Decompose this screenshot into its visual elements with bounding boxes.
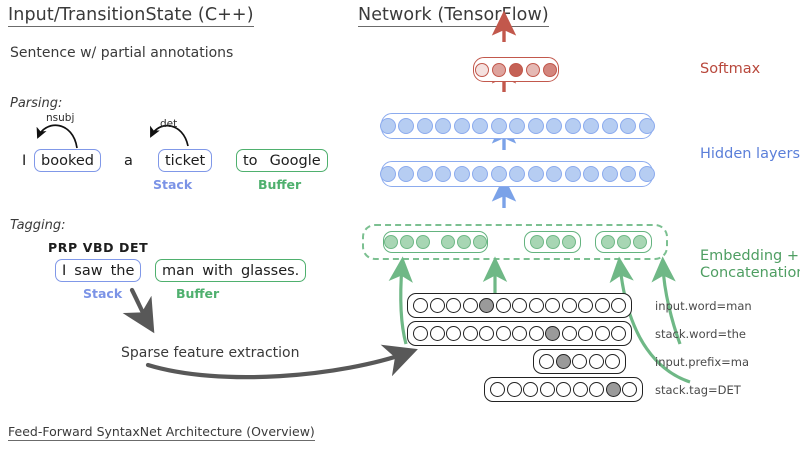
hidden-node: [639, 166, 655, 182]
embedding-node: [384, 235, 398, 249]
hidden-layers-label: Hidden layers: [700, 146, 800, 162]
parsing-stack-box-1[interactable]: booked: [34, 149, 101, 172]
sparse-feature-label-1: input.word=man: [655, 299, 752, 313]
parsing-stack-token-booked: booked: [35, 153, 100, 169]
sparse-node: [479, 326, 494, 341]
left-panel-subtitle: Sentence w/ partial annotations: [10, 45, 233, 61]
sparse-feature-row-3: [533, 349, 626, 374]
sparse-feature-row-2: [407, 321, 632, 346]
tagging-stack-label: Stack: [83, 286, 122, 301]
embedding-node: [416, 235, 430, 249]
hidden-node: [435, 166, 451, 182]
parsing-buffer-box[interactable]: to Google: [236, 149, 328, 172]
sparse-node: [578, 326, 593, 341]
hidden-node: [398, 118, 414, 134]
sparse-node: [446, 326, 461, 341]
sparse-node: [463, 326, 478, 341]
sparse-node: [562, 298, 577, 313]
embedding-node: [617, 235, 631, 249]
embedding-node: [601, 235, 615, 249]
sparse-node: [573, 382, 588, 397]
sparse-node: [540, 382, 555, 397]
hidden-node: [546, 166, 562, 182]
sparse-node: [529, 298, 544, 313]
hidden-node: [602, 166, 618, 182]
tagging-stack-box[interactable]: I saw the: [55, 259, 141, 282]
softmax-label: Softmax: [700, 61, 760, 77]
embedding-group-2-nodes: [441, 235, 487, 249]
tagging-stack-token-i: I: [56, 263, 70, 279]
embedding-group-4: [595, 231, 652, 253]
sparse-node: [611, 298, 626, 313]
hidden-node: [639, 118, 655, 134]
hidden-node: [472, 166, 488, 182]
sparse-node: [512, 326, 527, 341]
embedding-label-line-1: Embedding +: [700, 248, 800, 265]
parsing-token-a: a: [124, 153, 133, 169]
sparse-node-active: [556, 354, 571, 369]
embedding-group-1-nodes: [384, 235, 430, 249]
hidden-layer-2-nodes: [380, 166, 655, 182]
tagging-section-label: Tagging:: [10, 218, 66, 233]
sparse-node: [556, 382, 571, 397]
hidden-node: [398, 166, 414, 182]
hidden-node: [417, 166, 433, 182]
embedding-node: [530, 235, 544, 249]
left-panel-title: Input/TransitionState (C++): [8, 5, 254, 27]
sparse-node: [611, 326, 626, 341]
parsing-stack-label: Stack: [153, 177, 192, 192]
hidden-node: [417, 118, 433, 134]
tagging-stack-token-saw: saw: [70, 263, 106, 279]
parsing-stack-token-ticket: ticket: [159, 153, 211, 169]
sparse-node-active: [479, 298, 494, 313]
hidden-node: [620, 166, 636, 182]
sparse-node: [523, 382, 538, 397]
tagging-buffer-token-glasses: glasses.: [237, 263, 305, 279]
embedding-group-3-nodes: [530, 235, 576, 249]
hidden-node: [435, 118, 451, 134]
figure-caption: Feed-Forward SyntaxNet Architecture (Ove…: [8, 424, 315, 441]
sparse-node: [490, 382, 505, 397]
embedding-node: [633, 235, 647, 249]
sparse-node: [578, 298, 593, 313]
hidden-node: [565, 118, 581, 134]
softmax-node: [475, 63, 489, 77]
tagging-buffer-token-man: man: [156, 263, 198, 279]
softmax-node: [509, 63, 523, 77]
sparse-feature-row-4: [484, 377, 643, 402]
hidden-layer-2: [381, 161, 653, 187]
hidden-node: [528, 118, 544, 134]
softmax-node: [526, 63, 540, 77]
softmax-nodes: [475, 63, 557, 77]
hidden-node: [620, 118, 636, 134]
sparse-node: [622, 382, 637, 397]
hidden-node: [509, 166, 525, 182]
embedding-label-line-2: Concatenation: [700, 265, 800, 282]
sparse-node: [430, 326, 445, 341]
sparse-node: [496, 326, 511, 341]
sparse-node: [413, 298, 428, 313]
sparse-node: [595, 326, 610, 341]
parsing-buffer-label: Buffer: [258, 177, 301, 192]
sparse-node: [572, 354, 587, 369]
sparse-feature-label-2: stack.word=the: [655, 327, 746, 341]
hidden-node: [491, 166, 507, 182]
sparse-node: [595, 298, 610, 313]
sparse-node: [430, 298, 445, 313]
hidden-node: [602, 118, 618, 134]
sparse-node: [589, 354, 604, 369]
sparse-node: [562, 326, 577, 341]
sparse-node-active: [606, 382, 621, 397]
hidden-node: [454, 118, 470, 134]
sparse-feature-label-3: input.prefix=ma: [655, 355, 749, 369]
parsing-stack-box-2[interactable]: ticket: [158, 149, 212, 172]
hidden-node: [509, 118, 525, 134]
hidden-node: [583, 166, 599, 182]
hidden-node: [546, 118, 562, 134]
sparse-row-1-nodes: [408, 298, 631, 313]
hidden-node: [528, 166, 544, 182]
sparse-node: [413, 326, 428, 341]
hidden-node: [565, 166, 581, 182]
sparse-feature-extraction-label: Sparse feature extraction: [121, 345, 299, 361]
hidden-layer-1-nodes: [380, 118, 655, 134]
embedding-node: [562, 235, 576, 249]
sparse-node: [605, 354, 620, 369]
parsing-buffer-token-to: to: [237, 153, 264, 169]
embedding-node: [400, 235, 414, 249]
softmax-layer: [473, 57, 559, 82]
tagging-pos-tags: PRP VBD DET: [48, 240, 148, 255]
parsing-section-label: Parsing:: [10, 96, 62, 111]
embedding-node: [546, 235, 560, 249]
sparse-node: [545, 298, 560, 313]
softmax-node: [492, 63, 506, 77]
sparse-row-3-nodes: [534, 354, 625, 369]
hidden-node: [380, 166, 396, 182]
sparse-row-4-nodes: [485, 382, 642, 397]
hidden-node: [380, 118, 396, 134]
embedding-node: [441, 235, 455, 249]
hidden-node: [583, 118, 599, 134]
sparse-node: [496, 298, 511, 313]
embedding-group-3: [524, 231, 581, 253]
arc-label-nsubj: nsubj: [46, 112, 74, 124]
sparse-node: [512, 298, 527, 313]
embedding-node: [457, 235, 471, 249]
hidden-node: [472, 118, 488, 134]
parsing-buffer-token-google: Google: [264, 153, 327, 169]
arc-label-det: det: [160, 118, 177, 130]
sparse-row-2-nodes: [408, 326, 631, 341]
embedding-group-1: [383, 231, 488, 253]
sparse-node: [507, 382, 522, 397]
tagging-buffer-box[interactable]: man with glasses.: [155, 259, 306, 282]
sparse-node: [529, 326, 544, 341]
sparse-node: [463, 298, 478, 313]
sparse-node: [589, 382, 604, 397]
embedding-group-4-nodes: [601, 235, 647, 249]
softmax-node: [543, 63, 557, 77]
hidden-node: [454, 166, 470, 182]
embedding-node: [473, 235, 487, 249]
sparse-node-active: [545, 326, 560, 341]
parsing-token-i: I: [22, 153, 26, 169]
sparse-node: [446, 298, 461, 313]
sparse-node: [539, 354, 554, 369]
embedding-concatenation-label: Embedding + Concatenation: [700, 248, 800, 281]
hidden-layer-1: [381, 113, 653, 139]
tagging-stack-token-the: the: [107, 263, 141, 279]
sparse-feature-label-4: stack.tag=DET: [655, 383, 741, 397]
tagging-buffer-token-with: with: [198, 263, 237, 279]
hidden-node: [491, 118, 507, 134]
sparse-feature-row-1: [407, 293, 632, 318]
